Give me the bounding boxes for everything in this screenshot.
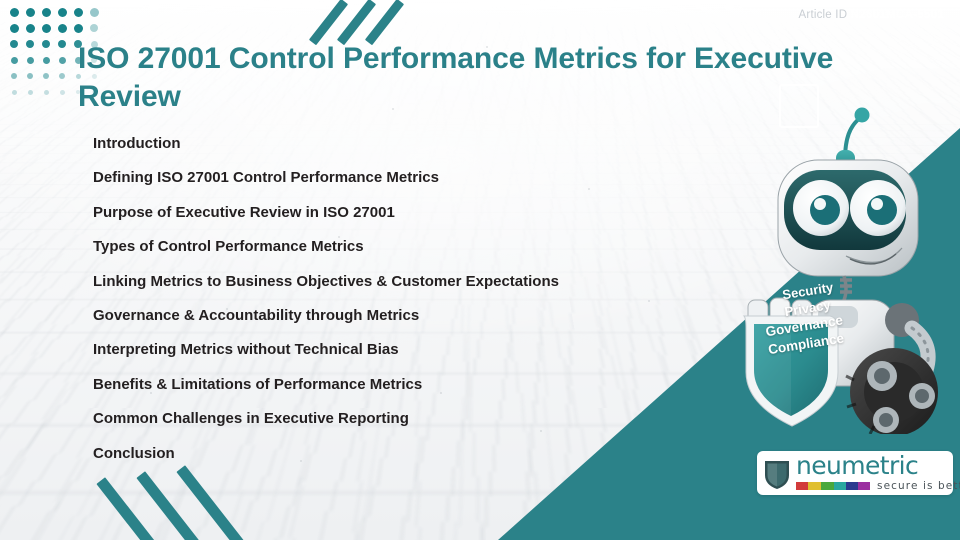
logo-tagline: secure is better	[877, 480, 960, 492]
logo-text-block: neumetric secure is better	[796, 454, 960, 493]
stripes-top-decoration	[318, 0, 448, 44]
robot-mascot-icon	[726, 104, 960, 434]
shield-text-block: Security Privacy Governance Compliance	[753, 276, 859, 360]
toc-item-4[interactable]: Types of Control Performance Metrics	[93, 239, 713, 254]
toc-item-9[interactable]: Common Challenges in Executive Reporting	[93, 411, 713, 426]
table-of-contents: Introduction Defining ISO 27001 Control …	[93, 136, 713, 480]
logo-color-bar	[796, 482, 870, 490]
logo-shield-icon	[763, 457, 791, 490]
toc-item-1[interactable]: Introduction	[93, 136, 713, 151]
toc-item-10[interactable]: Conclusion	[93, 446, 713, 461]
article-id-value: N2601MCA-5501	[851, 9, 944, 21]
toc-item-6[interactable]: Governance & Accountability through Metr…	[93, 308, 713, 323]
article-id-label: Article ID	[799, 9, 848, 21]
toc-item-7[interactable]: Interpreting Metrics without Technical B…	[93, 342, 713, 357]
toc-item-2[interactable]: Defining ISO 27001 Control Performance M…	[93, 170, 713, 185]
logo-subline: secure is better	[796, 480, 960, 492]
logo-name: neumetric	[796, 454, 960, 478]
neumetric-logo[interactable]: neumetric secure is better	[757, 451, 953, 495]
toc-item-8[interactable]: Benefits & Limitations of Performance Me…	[93, 377, 713, 392]
article-id: Article ID N2601MCA-5501	[799, 9, 944, 21]
slide-canvas: Article ID N2601MCA-5501 ISO 27001 Contr…	[0, 0, 960, 540]
toc-item-5[interactable]: Linking Metrics to Business Objectives &…	[93, 274, 713, 289]
toc-item-3[interactable]: Purpose of Executive Review in ISO 27001	[93, 205, 713, 220]
